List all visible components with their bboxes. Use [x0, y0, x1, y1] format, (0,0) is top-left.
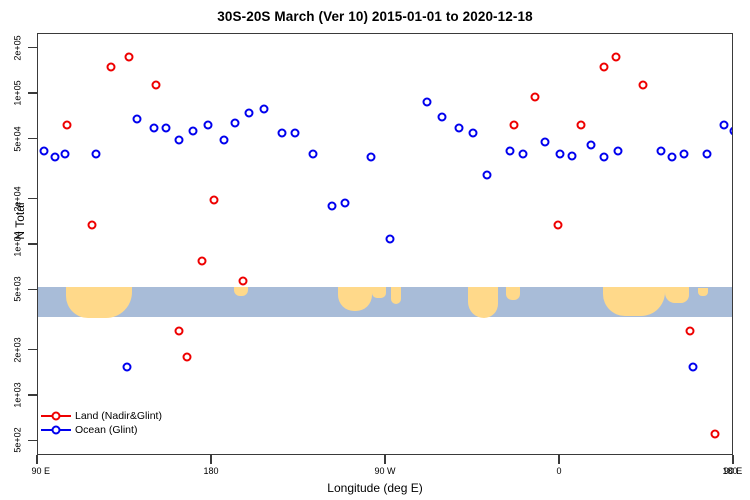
data-point-ocean — [540, 138, 549, 147]
data-point-ocean — [277, 129, 286, 138]
data-point-land — [530, 93, 539, 102]
y-tick-label: 5e+04 — [12, 126, 22, 151]
data-point-land — [198, 257, 207, 266]
data-point-ocean — [556, 150, 565, 159]
data-point-ocean — [385, 234, 394, 243]
data-point-ocean — [679, 150, 688, 159]
data-point-ocean — [668, 153, 677, 162]
data-point-ocean — [455, 123, 464, 132]
y-tick-mark — [28, 349, 37, 350]
data-point-land — [710, 429, 719, 438]
data-point-land — [209, 195, 218, 204]
y-tick-label: 2e+05 — [12, 35, 22, 60]
data-point-ocean — [586, 140, 595, 149]
data-point-ocean — [308, 150, 317, 159]
y-tick-mark — [28, 289, 37, 290]
legend-label-ocean: Ocean (Glint) — [75, 424, 137, 436]
data-point-land — [107, 63, 116, 72]
y-tick-mark — [28, 198, 37, 199]
data-point-ocean — [122, 363, 131, 372]
y-tick-mark — [28, 243, 37, 244]
data-point-ocean — [614, 146, 623, 155]
legend-label-land: Land (Nadir&Glint) — [75, 410, 162, 422]
data-point-land — [509, 121, 518, 130]
data-point-land — [238, 276, 247, 285]
data-point-ocean — [219, 135, 228, 144]
data-point-ocean — [438, 113, 447, 122]
landmass-shape — [698, 288, 708, 296]
chart-title: 30S-20S March (Ver 10) 2015-01-01 to 202… — [0, 9, 750, 24]
data-point-land — [124, 53, 133, 62]
data-point-land — [639, 80, 648, 89]
x-tick-mark — [36, 455, 37, 464]
y-axis-title: N Total — [13, 181, 27, 261]
y-tick-mark — [28, 92, 37, 93]
data-point-ocean — [188, 126, 197, 135]
legend-marker-ocean-icon — [41, 429, 71, 431]
chart-legend: Land (Nadir&Glint) Ocean (Glint) — [41, 409, 162, 437]
data-point-ocean — [656, 146, 665, 155]
y-tick-mark — [28, 47, 37, 48]
data-point-ocean — [260, 104, 269, 113]
data-point-ocean — [366, 153, 375, 162]
landmass-shape — [391, 287, 401, 304]
y-tick-label: 1e+03 — [12, 382, 22, 407]
data-point-ocean — [51, 153, 60, 162]
data-point-ocean — [132, 115, 141, 124]
data-point-ocean — [600, 153, 609, 162]
data-point-ocean — [689, 363, 698, 372]
plot-area — [37, 33, 733, 455]
x-tick-mark — [732, 455, 733, 464]
x-tick-label: 0 — [556, 466, 561, 476]
data-point-ocean — [161, 123, 170, 132]
data-point-ocean — [341, 198, 350, 207]
landmass-shape — [372, 287, 386, 298]
x-tick-mark — [210, 455, 211, 464]
data-point-land — [577, 121, 586, 130]
data-point-ocean — [61, 150, 70, 159]
landmass-shape — [506, 287, 520, 300]
data-point-land — [175, 326, 184, 335]
y-tick-label: 5e+03 — [12, 277, 22, 302]
data-point-ocean — [291, 129, 300, 138]
data-point-ocean — [175, 135, 184, 144]
data-point-ocean — [204, 121, 213, 130]
data-point-ocean — [567, 151, 576, 160]
data-point-ocean — [150, 123, 159, 132]
data-point-land — [612, 53, 621, 62]
data-point-ocean — [519, 150, 528, 159]
data-point-ocean — [92, 150, 101, 159]
x-tick-label: 90 W — [374, 466, 395, 476]
data-point-ocean — [422, 98, 431, 107]
y-tick-label: 1e+05 — [12, 80, 22, 105]
data-point-ocean — [244, 108, 253, 117]
data-point-land — [685, 326, 694, 335]
x-tick-label: 180 — [722, 466, 737, 476]
data-point-land — [63, 121, 72, 130]
legend-marker-land-icon — [41, 415, 71, 417]
x-tick-label: 90 E — [31, 466, 50, 476]
data-point-ocean — [39, 146, 48, 155]
data-point-ocean — [327, 202, 336, 211]
legend-item-land[interactable]: Land (Nadir&Glint) — [41, 409, 162, 423]
landmass-shape — [234, 287, 242, 292]
data-point-ocean — [482, 171, 491, 180]
data-point-ocean — [730, 126, 734, 135]
data-point-land — [151, 80, 160, 89]
data-point-land — [182, 353, 191, 362]
data-point-ocean — [231, 119, 240, 128]
y-tick-mark — [28, 394, 37, 395]
chart-page: 30S-20S March (Ver 10) 2015-01-01 to 202… — [0, 0, 750, 500]
legend-item-ocean[interactable]: Ocean (Glint) — [41, 423, 162, 437]
y-tick-label: 2e+03 — [12, 337, 22, 362]
data-point-land — [88, 221, 97, 230]
x-tick-mark — [558, 455, 559, 464]
data-point-land — [600, 63, 609, 72]
y-tick-mark — [28, 440, 37, 441]
landmass-shape — [665, 287, 689, 303]
y-tick-mark — [28, 138, 37, 139]
data-point-ocean — [469, 129, 478, 138]
data-point-land — [554, 221, 563, 230]
x-tick-label: 180 — [203, 466, 218, 476]
data-point-ocean — [505, 146, 514, 155]
data-point-ocean — [702, 150, 711, 159]
data-point-ocean — [720, 121, 729, 130]
x-tick-mark — [384, 455, 385, 464]
landmass-shape — [468, 287, 498, 318]
y-tick-label: 5e+02 — [12, 428, 22, 453]
x-axis-title: Longitude (deg E) — [0, 481, 750, 495]
